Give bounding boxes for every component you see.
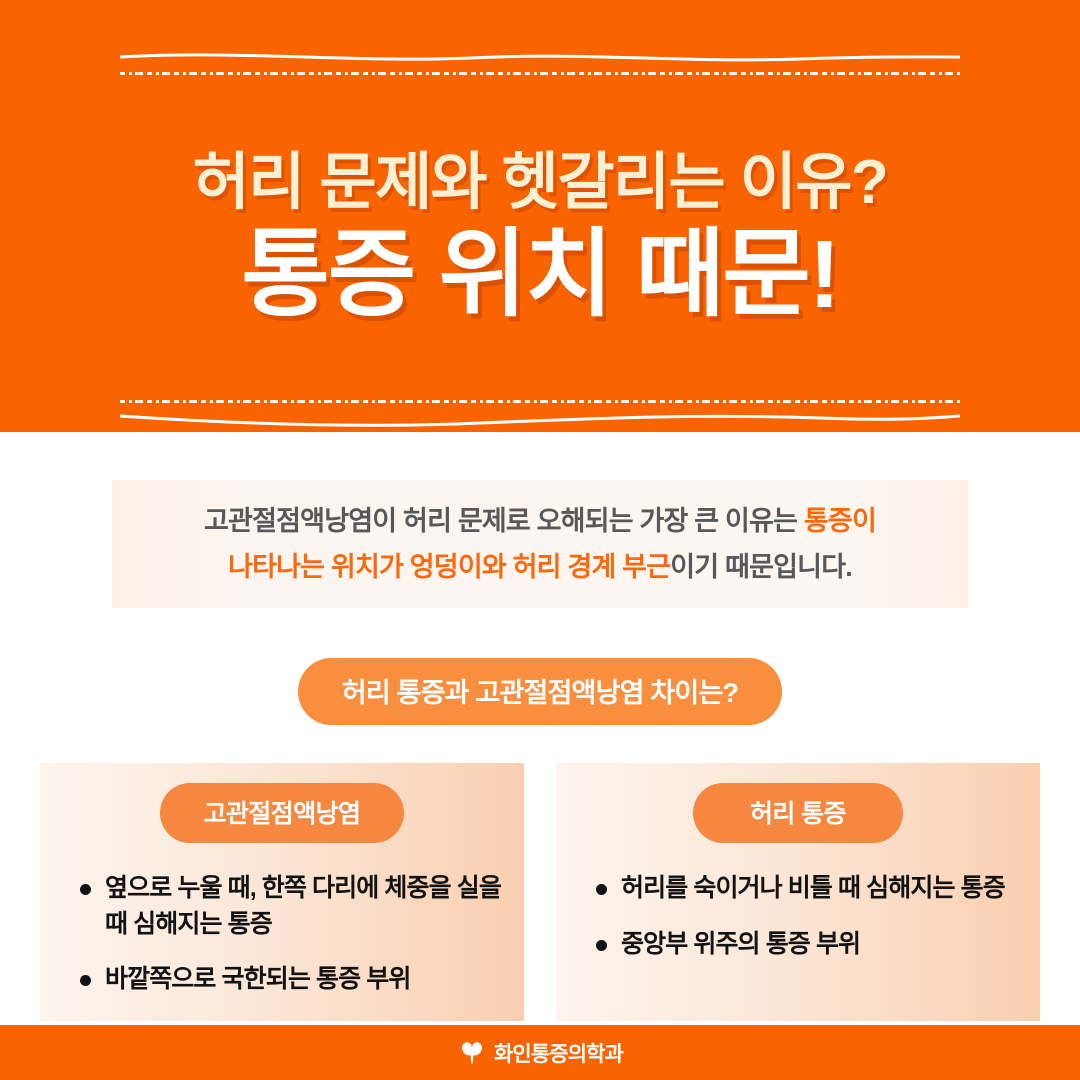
list-item-label: 바깥쪽으로 국한되는 통증 부위 [105, 962, 410, 998]
body-content: 고관절점액낭염이 허리 문제로 오해되는 가장 큰 이유는 통증이 나타나는 위… [0, 432, 1080, 1025]
list-item-label: 옆으로 누울 때, 한쪽 다리에 체중을 실을 때 심해지는 통증 [105, 871, 506, 942]
info-box-line-2-text: 이기 때문입니다. [670, 552, 852, 582]
bullet-icon [80, 975, 91, 986]
info-box-line-1: 고관절점액낭염이 허리 문제로 오해되는 가장 큰 이유는 통증이 [204, 501, 876, 542]
header-title-line-1: 허리 문제와 헷갈리는 이유? [193, 148, 888, 217]
footer-clinic-name: 화인통증의학과 [494, 1038, 623, 1068]
info-box-highlight-1: 통증이 [804, 506, 876, 536]
bullet-icon [80, 884, 91, 895]
info-box-line-1-text: 고관절점액낭염이 허리 문제로 오해되는 가장 큰 이유는 [204, 506, 804, 536]
card-title-hip-bursitis: 고관절점액낭염 [160, 783, 405, 843]
list-item-label: 중앙부 위주의 통증 부위 [621, 927, 860, 963]
header-top-wavy-rule [120, 44, 960, 70]
card-hip-bursitis: 고관절점액낭염 옆으로 누울 때, 한쪽 다리에 체중을 실을 때 심해지는 통… [40, 763, 524, 1021]
list-item-label: 허리를 숙이거나 비틀 때 심해지는 통증 [621, 871, 1005, 907]
header-bottom-wavy-rule [120, 406, 960, 432]
footer-bar: 화인통증의학과 [0, 1025, 1080, 1080]
header-title-line-2: 통증 위치 때문! [241, 222, 838, 328]
list-item: 옆으로 누울 때, 한쪽 다리에 체중을 실을 때 심해지는 통증 [80, 871, 506, 942]
comparison-cards: 고관절점액낭염 옆으로 누울 때, 한쪽 다리에 체중을 실을 때 심해지는 통… [40, 763, 1040, 1021]
bullet-icon [596, 940, 607, 951]
list-item: 바깥쪽으로 국한되는 통증 부위 [80, 962, 506, 998]
header-bottom-dashed-rule [120, 398, 960, 406]
info-box: 고관절점액낭염이 허리 문제로 오해되는 가장 큰 이유는 통증이 나타나는 위… [112, 480, 968, 608]
infographic-poster: 허리 문제와 헷갈리는 이유? 통증 위치 때문! 고관절점액낭염이 허리 문제… [0, 0, 1080, 1080]
info-box-highlight-2: 나타나는 위치가 엉덩이와 허리 경계 부근 [228, 552, 670, 582]
card-low-back-pain: 허리 통증 허리를 숙이거나 비틀 때 심해지는 통증 중앙부 위주의 통증 부… [556, 763, 1040, 1021]
section-heading-pill: 허리 통증과 고관절점액낭염 차이는? [298, 658, 782, 725]
info-box-line-2: 나타나는 위치가 엉덩이와 허리 경계 부근이기 때문입니다. [228, 547, 852, 588]
list-item: 허리를 숙이거나 비틀 때 심해지는 통증 [596, 871, 1022, 907]
card-list-low-back-pain: 허리를 숙이거나 비틀 때 심해지는 통증 중앙부 위주의 통증 부위 [574, 871, 1022, 962]
card-list-hip-bursitis: 옆으로 누울 때, 한쪽 다리에 체중을 실을 때 심해지는 통증 바깥쪽으로 … [58, 871, 506, 998]
card-title-low-back-pain: 허리 통증 [693, 783, 903, 843]
bullet-icon [596, 884, 607, 895]
list-item: 중앙부 위주의 통증 부위 [596, 927, 1022, 963]
butterfly-logo-icon [457, 1042, 487, 1064]
header-banner: 허리 문제와 헷갈리는 이유? 통증 위치 때문! [0, 0, 1080, 432]
header-top-dashed-rule [120, 70, 960, 78]
header-title-block: 허리 문제와 헷갈리는 이유? 통증 위치 때문! [0, 78, 1080, 398]
